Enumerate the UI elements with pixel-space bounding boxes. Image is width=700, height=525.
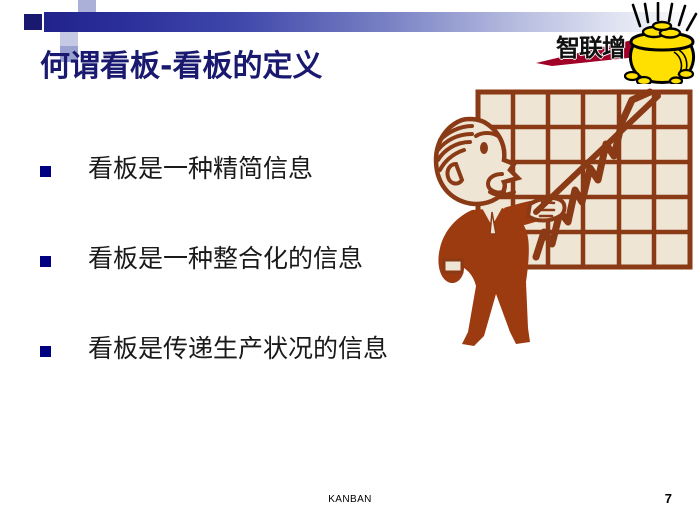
list-item-label: 看板是一种精简信息: [88, 152, 313, 186]
pot-of-gold-icon: [624, 2, 700, 84]
square-bullet-icon: [40, 166, 51, 177]
slide-canvas: 智联增: [0, 0, 700, 525]
decorative-square-10: [8, 14, 24, 30]
page-number: 7: [665, 491, 672, 506]
list-item-label: 看板是传递生产状况的信息: [88, 332, 388, 366]
company-logo: 智联增: [528, 2, 700, 84]
decorative-square-8: [60, 30, 78, 46]
decorative-square-6: [24, 30, 42, 46]
decorative-square-7: [42, 30, 60, 46]
footer-label: KANBAN: [0, 494, 700, 505]
square-bullet-icon: [40, 256, 51, 267]
page-title: 何谓看板-看板的定义: [40, 48, 322, 86]
square-bullet-icon: [40, 346, 51, 357]
logo-text: 智联增: [556, 28, 625, 63]
decorative-square-0: [24, 14, 42, 30]
man-pointing-at-growth-chart-illustration: [418, 82, 700, 348]
list-item-label: 看板是一种整合化的信息: [88, 242, 363, 276]
